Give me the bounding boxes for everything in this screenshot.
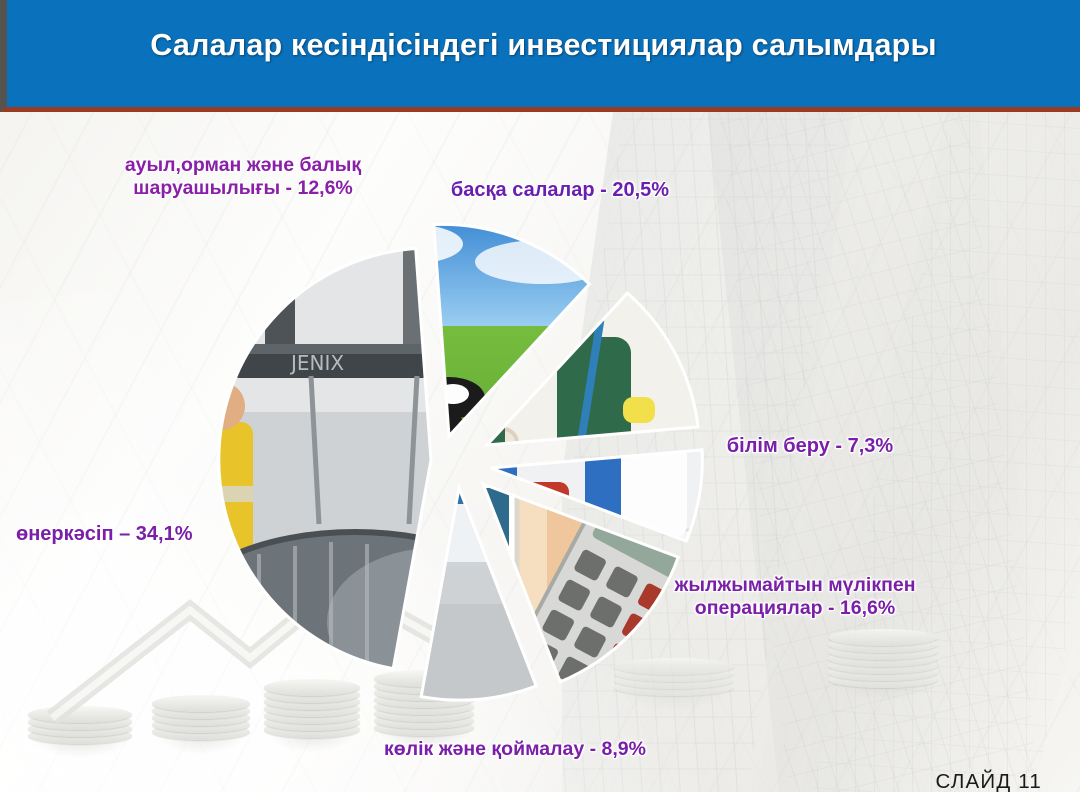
page-title: Салалар кесіндісіндегі инвестициялар сал… — [7, 28, 1080, 63]
pie-label-transport: көлік және қоймалау - 8,9% — [372, 738, 658, 761]
pie-slice-industry[interactable] — [219, 249, 431, 669]
investment-pie-chart: 10 10 — [225, 218, 697, 690]
presentation-slide: Салалар кесіндісіндегі инвестициялар сал… — [0, 0, 1080, 792]
pie-slices — [219, 224, 703, 700]
pie-label-industry: өнеркәсіп – 34,1% — [16, 522, 236, 546]
pie-label-real-estate: жылжымайтын мүлікпен операциялар - 16,6% — [664, 574, 926, 621]
pie-label-agriculture: ауыл,орман және балық шаруашылығы - 12,6… — [108, 154, 378, 201]
pie-label-education: білім беру - 7,3% — [690, 434, 930, 458]
pie-label-other-sectors: басқа салалар - 20,5% — [410, 178, 710, 202]
slide-number: СЛАЙД 11 — [936, 770, 1042, 792]
slide-title-bar: Салалар кесіндісіндегі инвестициялар сал… — [0, 0, 1080, 112]
